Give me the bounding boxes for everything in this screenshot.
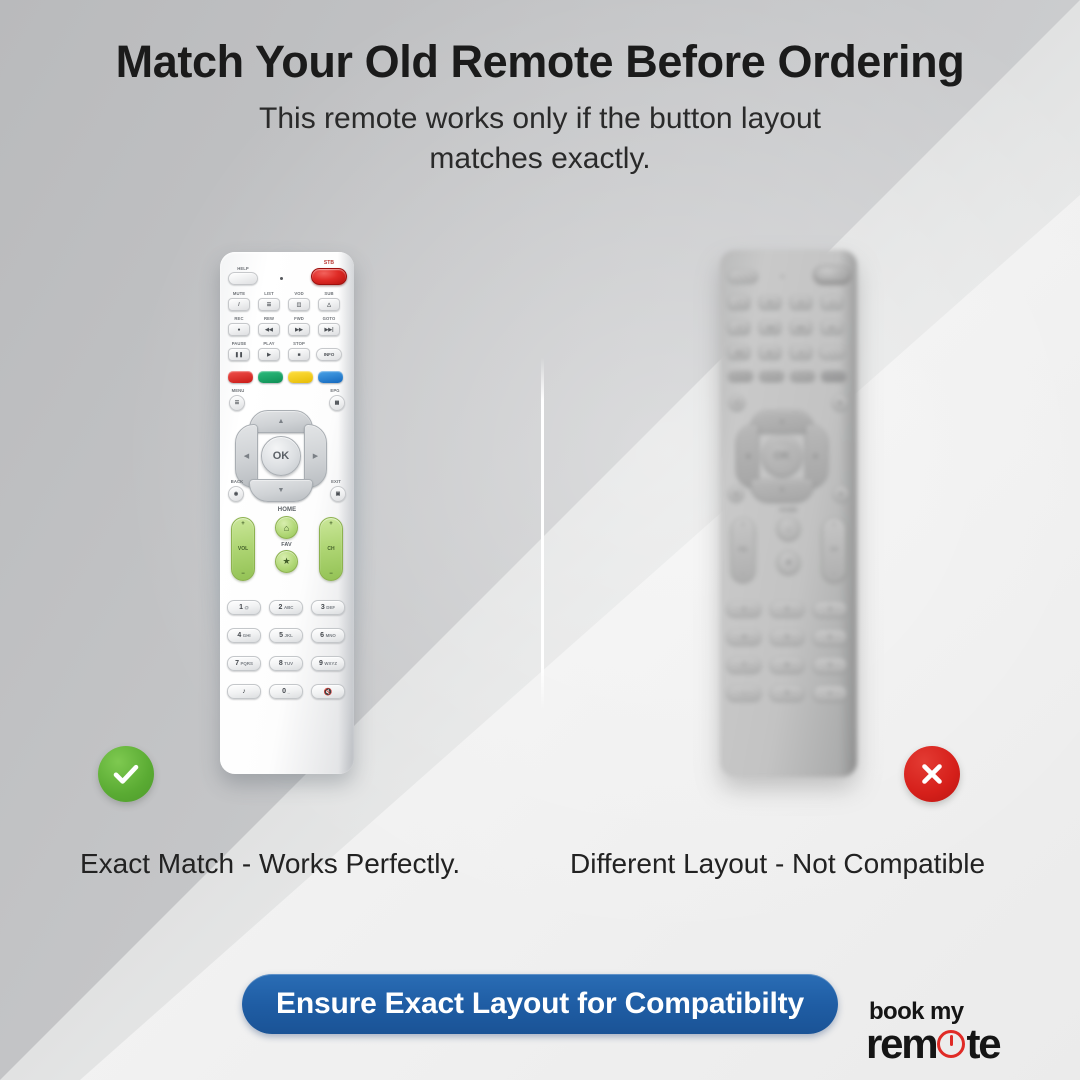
goto-button[interactable]: ▶▶| [318, 323, 340, 336]
key-digit: 9 [319, 660, 323, 667]
power-button[interactable] [311, 268, 347, 285]
help-button[interactable] [228, 272, 258, 285]
volume-up-icon: + [241, 521, 245, 527]
channel-up-icon: + [329, 521, 333, 527]
volume-rocker[interactable]: + VOL − [231, 517, 255, 581]
vod-button[interactable]: ◫ [790, 296, 812, 309]
key-4[interactable]: 4 [727, 630, 761, 645]
key-3[interactable]: 3 [813, 602, 847, 617]
music-note-icon: ♪ [742, 690, 746, 697]
key-digit: 4 [237, 632, 241, 639]
logo-remote-suffix: te [966, 1023, 999, 1065]
key-digit: 5 [279, 632, 283, 639]
page-title: Match Your Old Remote Before Ordering [0, 38, 1080, 86]
label-goto: GOTO [315, 316, 343, 321]
key-digit: 5 [785, 634, 789, 641]
key-sub: GHI [243, 633, 251, 638]
rewind-button[interactable]: ◀◀ [258, 323, 280, 336]
forward-button[interactable]: ▶▶ [288, 323, 310, 336]
dpad[interactable]: ▲ ◀ ▶ ▼ OK [235, 410, 327, 502]
channel-label: CH [830, 547, 837, 553]
stop-button[interactable]: ■ [790, 346, 812, 359]
back-button[interactable]: ◉ [728, 486, 744, 502]
label-rew: REW [255, 316, 283, 321]
label-fav: FAV [264, 542, 309, 548]
key-digit: 7 [235, 660, 239, 667]
grey-key-3[interactable] [790, 369, 815, 381]
grey-key-2[interactable] [759, 369, 784, 381]
label-pause: PAUSE [225, 341, 253, 346]
label-list: LIST [255, 291, 283, 296]
label-help: HELP [226, 266, 260, 271]
label-mute: MUTE [225, 291, 253, 296]
epg-button[interactable]: ▦ [329, 395, 345, 411]
channel-rocker[interactable]: + CH − [822, 518, 846, 582]
list-button[interactable]: ☰ [759, 296, 781, 309]
exit-button[interactable]: ▣ [833, 486, 849, 502]
power-icon [937, 1030, 965, 1058]
volume-label: VOL [238, 546, 248, 552]
sub-button[interactable]: △ [318, 298, 340, 311]
key-2[interactable]: 2ABC [269, 600, 303, 615]
caption-exact-match: Exact Match - Works Perfectly. [80, 848, 460, 880]
key-1[interactable]: 1 [727, 602, 761, 617]
mute-button[interactable]: / [728, 296, 750, 309]
key-digit: 2 [785, 606, 789, 613]
key-sub: _ [287, 689, 289, 694]
volume-rocker[interactable]: + VOL − [731, 518, 755, 582]
page-subtitle: This remote works only if the button lay… [0, 99, 1080, 179]
mute-button[interactable]: / [228, 298, 250, 311]
play-button[interactable]: ▶ [759, 346, 781, 359]
power-button[interactable] [814, 266, 850, 283]
volume-label: VOL [738, 547, 748, 553]
forward-button[interactable]: ▶▶ [790, 321, 812, 334]
label-epg: EPG [320, 388, 350, 393]
blue-key[interactable] [318, 371, 343, 383]
vod-button[interactable]: ◫ [288, 298, 310, 311]
label-sub: SUB [315, 291, 343, 296]
verdict-good [98, 746, 154, 802]
key-digit: 8 [279, 660, 283, 667]
fav-button[interactable]: ★ [275, 550, 298, 573]
help-button[interactable] [728, 270, 758, 283]
remote-exact-match[interactable]: HELP STB MUTE LIST VOD SUB / ☰ ◫ △ REC R… [220, 252, 354, 774]
ok-button[interactable]: OK [261, 436, 301, 476]
key-3[interactable]: 3DEF [311, 600, 345, 615]
volume-down-icon: − [741, 572, 745, 578]
channel-down-icon: − [832, 572, 836, 578]
key-sub: DEF [326, 605, 335, 610]
play-button[interactable]: ▶ [258, 348, 280, 361]
logo-remote-prefix: rem [866, 1023, 936, 1065]
mute-bottom-button[interactable]: ● [813, 686, 847, 701]
mute-speaker-icon: ● [828, 690, 832, 697]
pause-button[interactable]: ❚❚ [728, 346, 750, 359]
key-sub: PQRS [240, 661, 252, 666]
menu-button[interactable]: ☰ [729, 395, 745, 411]
key-sub: ABC [284, 605, 294, 610]
remote-different-layout[interactable]: / ☰ ◫ △ ● ◀◀ ▶▶ ▶| ❚❚ ▶ ■ ☰ ▦ ▲ ◀ ▶ ▼ OK… [720, 250, 857, 777]
key-digit: 7 [742, 662, 746, 669]
label-home: HOME [220, 507, 354, 513]
key-digit: 0 [785, 690, 789, 697]
volume-up-icon: + [741, 522, 745, 528]
dpad[interactable]: ▲ ◀ ▶ ▼ OK [736, 410, 828, 502]
label-home: HOME [720, 508, 857, 514]
info-button[interactable]: INFO [316, 348, 342, 361]
key-digit: 6 [828, 634, 832, 641]
key-9[interactable]: 9WXYZ [311, 656, 345, 671]
key-digit: 2 [279, 604, 283, 611]
label-vod: VOD [285, 291, 313, 296]
red-key[interactable] [228, 371, 253, 383]
key-5[interactable]: 5JKL [269, 628, 303, 643]
pause-button[interactable]: ❚❚ [228, 348, 250, 361]
key-6[interactable]: 6 [813, 630, 847, 645]
key-0[interactable]: 0 [770, 686, 804, 701]
list-button[interactable]: ☰ [258, 298, 280, 311]
key-1[interactable]: 1@ [227, 600, 261, 615]
caption-different-layout: Different Layout - Not Compatible [570, 848, 985, 880]
stop-button[interactable]: ■ [288, 348, 310, 361]
key-9[interactable]: 9 [813, 658, 847, 673]
goto-button[interactable]: ▶| [821, 321, 843, 334]
mute-speaker-icon: 🔇 [324, 688, 333, 696]
key-0[interactable]: 0_ [269, 684, 303, 699]
key-8[interactable]: 8 [770, 658, 804, 673]
key-digit: 0 [282, 688, 286, 695]
ir-indicator [781, 275, 784, 278]
grey-key-1[interactable] [728, 369, 753, 381]
fav-button[interactable]: ★ [777, 551, 800, 574]
ok-button[interactable]: OK [762, 436, 802, 476]
record-button[interactable]: ● [228, 323, 250, 336]
green-key[interactable] [258, 371, 283, 383]
key-digit: 4 [742, 634, 746, 641]
remote-face: / ☰ ◫ △ ● ◀◀ ▶▶ ▶| ❚❚ ▶ ■ ☰ ▦ ▲ ◀ ▶ ▼ OK… [720, 250, 857, 777]
key-sub: TUV [284, 661, 293, 666]
record-button[interactable]: ● [728, 321, 750, 334]
key-sub: MNO [326, 633, 336, 638]
key-7[interactable]: 7PQRS [227, 656, 261, 671]
key-digit: 8 [785, 662, 789, 669]
key-digit: 3 [321, 604, 325, 611]
key-2[interactable]: 2 [770, 602, 804, 617]
sub-button[interactable]: △ [821, 296, 843, 309]
exit-button[interactable]: ▣ [330, 486, 346, 502]
subtitle-line-1: This remote works only if the button lay… [0, 99, 1080, 139]
channel-label: CH [327, 546, 334, 552]
label-menu: MENU [223, 388, 253, 393]
label-rec: REC [225, 316, 253, 321]
label-help [726, 264, 760, 269]
cross-icon [904, 746, 960, 802]
music-note-icon: ♪ [242, 688, 246, 695]
subtitle-line-2: matches exactly. [0, 139, 1080, 179]
key-sub: @ [245, 605, 249, 610]
volume-down-icon: − [241, 571, 245, 577]
key-digit: 9 [828, 662, 832, 669]
key-sub: JKL [285, 633, 293, 638]
dpad-down-button[interactable]: ▼ [249, 479, 313, 502]
menu-button[interactable]: ☰ [229, 395, 245, 411]
home-button[interactable]: ⌂ [777, 517, 800, 540]
label-stb: STB [311, 260, 347, 266]
blue-grey-key[interactable] [821, 369, 846, 381]
channel-up-icon: + [832, 522, 836, 528]
key-digit: 6 [320, 632, 324, 639]
mute-bottom-button[interactable]: 🔇 [311, 684, 345, 699]
logo-line-2: rem te [866, 1023, 999, 1065]
key-digit: 3 [828, 606, 832, 613]
back-button[interactable]: ◉ [228, 486, 244, 502]
cta-label: Ensure Exact Layout for Compatibilty [276, 987, 804, 1021]
remote-face: HELP STB MUTE LIST VOD SUB / ☰ ◫ △ REC R… [220, 252, 354, 774]
label-exit: EXIT [321, 479, 351, 484]
label-play: PLAY [255, 341, 283, 346]
label-back: BACK [222, 479, 252, 484]
brand-logo: book my rem te [866, 1000, 999, 1065]
yellow-key[interactable] [288, 371, 313, 383]
key-6[interactable]: 6MNO [311, 628, 345, 643]
key-8[interactable]: 8TUV [269, 656, 303, 671]
vertical-divider [541, 358, 544, 710]
key-digit: 1 [742, 606, 746, 613]
header: Match Your Old Remote Before Ordering Th… [0, 0, 1080, 178]
info-button[interactable] [819, 346, 845, 359]
key-digit: 1 [239, 604, 243, 611]
verdict-bad [904, 746, 960, 802]
music-button[interactable]: ♪ [227, 684, 261, 699]
ir-indicator [280, 277, 283, 280]
home-button[interactable]: ⌂ [275, 516, 298, 539]
key-7[interactable]: 7 [727, 658, 761, 673]
channel-rocker[interactable]: + CH − [319, 517, 343, 581]
music-button[interactable]: ♪ [727, 686, 761, 701]
channel-down-icon: − [329, 571, 333, 577]
check-icon [98, 746, 154, 802]
label-stop: STOP [285, 341, 313, 346]
rewind-button[interactable]: ◀◀ [759, 321, 781, 334]
cta-button[interactable]: Ensure Exact Layout for Compatibilty [242, 974, 838, 1034]
key-sub: WXYZ [324, 661, 337, 666]
epg-button[interactable]: ▦ [832, 395, 848, 411]
key-5[interactable]: 5 [770, 630, 804, 645]
label-fwd: FWD [285, 316, 313, 321]
key-4[interactable]: 4GHI [227, 628, 261, 643]
dpad-down-button[interactable]: ▼ [750, 479, 814, 502]
